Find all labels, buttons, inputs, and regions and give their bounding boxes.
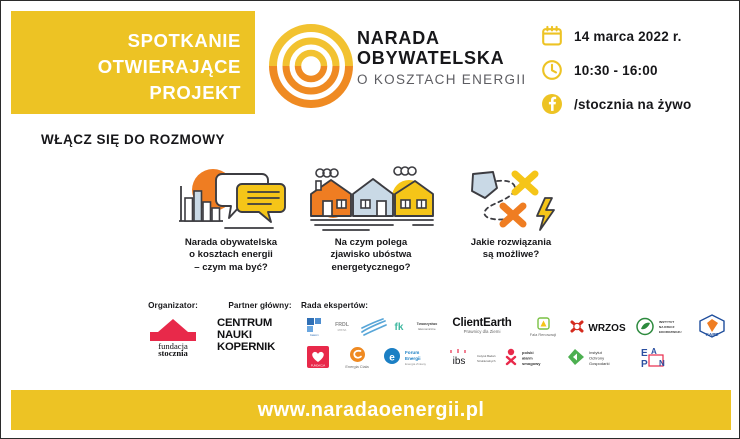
- svg-text:FUNDACJA: FUNDACJA: [311, 364, 326, 368]
- svg-text:ibs: ibs: [453, 356, 466, 367]
- poster-root: SPOTKANIE OTWIERAJĄCE PROJEKT: [0, 0, 740, 439]
- svg-text:smogowy: smogowy: [522, 361, 541, 366]
- website-url[interactable]: www.naradaoenergii.pl: [258, 399, 485, 422]
- info-row-time: 10:30 - 16:00: [541, 57, 737, 83]
- logo-line-3: O KOSZTACH ENERGII: [357, 71, 542, 89]
- svg-text:Ekonomiczne: Ekonomiczne: [418, 327, 436, 331]
- forum-energii-logo: e Forum Energii Energia Zmiany: [379, 344, 445, 370]
- concentric-arcs-logo-icon: [269, 18, 353, 110]
- fala-renowacji-logo: Fala Renowacji: [519, 313, 567, 339]
- dashed-path-crosses-bolt-illustration: [441, 164, 581, 234]
- polska-energia-cieplna-logo: Energia Ciała: [335, 344, 379, 370]
- svg-text:Forum: Forum: [405, 350, 419, 355]
- svg-text:batory: batory: [310, 333, 319, 336]
- calendar-icon: [541, 25, 563, 47]
- organizer-label: Organizator:: [134, 301, 212, 310]
- wrzos-logo: WRZOS: [567, 313, 633, 339]
- svg-text:E: E: [641, 348, 648, 359]
- event-date: 14 marca 2022 r.: [574, 29, 682, 44]
- svg-text:MISTiA: MISTiA: [338, 328, 347, 332]
- fundacja-patria-logo: FUNDACJA: [301, 344, 335, 370]
- instytut-na-rzecz-ekorozwoju-logo: INSTYTUT NA RZECZ EKOROZWOJU: [633, 313, 695, 339]
- svg-text:FRDL: FRDL: [335, 322, 350, 328]
- clock-icon: [541, 59, 563, 81]
- svg-text:fk: fk: [395, 322, 404, 333]
- svg-text:Energia Zmiany: Energia Zmiany: [405, 362, 427, 366]
- ean-epn-logo: E A P N: [635, 344, 675, 370]
- topic-card-rozwiazania: Jakie rozwiązania są możliwe?: [441, 164, 581, 284]
- fundacja-konstruktywnej-ekologii-logo: fk: [389, 313, 409, 339]
- ibs-logo: ibs Instytut Badań Strukturalnych: [445, 344, 501, 370]
- facebook-handle[interactable]: /stocznia na żywo: [574, 97, 691, 112]
- poster-header: SPOTKANIE OTWIERAJĄCE PROJEKT: [1, 1, 740, 123]
- centrum-nauki-kopernik-logo: CENTRUM NAUKI KOPERNIK: [217, 317, 303, 353]
- svg-text:Towarzystwo: Towarzystwo: [417, 322, 437, 326]
- logo-wordmark: NARADA OBYWATELSKA O KOSZTACH ENERGII: [357, 28, 542, 89]
- topic-cards: Narada obywatelska o kosztach energii – …: [161, 164, 581, 284]
- headline-line-1: SPOTKANIE: [128, 32, 241, 51]
- fala-renowacji-label: Fala Renowacji: [530, 332, 557, 337]
- topic-card-caption: Na czym polega zjawisko ubóstwa energety…: [301, 237, 441, 274]
- logo-line-2: OBYWATELSKA: [357, 48, 542, 68]
- svg-text:KAPE: KAPE: [706, 332, 719, 337]
- experts-label: Rada ekspertów:: [301, 301, 731, 310]
- organizer-block: Organizator: fundacja stocznia: [134, 301, 212, 362]
- cnk-line-1: CENTRUM: [217, 317, 303, 329]
- headline-line-3: PROJEKT: [149, 84, 241, 103]
- svg-text:Instytut Badań: Instytut Badań: [477, 354, 496, 358]
- clientearth-tagline: Prawnicy dla Ziemi: [464, 329, 501, 335]
- topic-card-caption: Jakie rozwiązania są możliwe?: [441, 237, 581, 262]
- chart-speech-bubbles-illustration: [161, 164, 301, 234]
- clientearth-logo: ClientEarth Prawnicy dla Ziemi: [445, 313, 519, 339]
- cnk-line-3: KOPERNIK: [217, 341, 303, 353]
- three-houses-illustration: [301, 164, 441, 234]
- cnk-line-2: NAUKI: [217, 329, 303, 341]
- towarzystwo-logo: Towarzystwo Ekonomiczne: [409, 313, 445, 339]
- svg-text:INSTYTUT: INSTYTUT: [659, 320, 674, 324]
- experts-council-block: Rada ekspertów: batory FRDL MISTiA: [301, 301, 731, 370]
- svg-text:N: N: [659, 359, 665, 368]
- svg-text:NA RZECZ: NA RZECZ: [659, 325, 675, 329]
- polski-alarm-smogowy-logo: polski alarm smogowy: [501, 344, 563, 370]
- event-info-list: 14 marca 2022 r. 10:30 - 16:00: [541, 23, 737, 125]
- experts-logo-row-1: batory FRDL MISTiA: [301, 313, 731, 339]
- kape-logo: KAPE: [695, 313, 729, 339]
- logo-line-1: NARADA: [357, 28, 542, 48]
- instytut-ochrony-gospodarki-logo: Instytut Ochrony Gospodarki: [563, 344, 635, 370]
- main-partner-block: Partner główny: CENTRUM NAUKI KOPERNIK: [217, 301, 303, 353]
- clientearth-wordmark: ClientEarth: [452, 317, 511, 329]
- polska-energia-label: Energia Ciała: [345, 364, 368, 369]
- svg-text:Energii: Energii: [405, 356, 421, 361]
- svg-text:Strukturalnych: Strukturalnych: [477, 359, 496, 363]
- footer-bar: www.naradaoenergii.pl: [11, 390, 731, 430]
- svg-text:stocznia: stocznia: [158, 348, 188, 357]
- svg-text:Instytut: Instytut: [589, 350, 603, 355]
- svg-text:Gospodarki: Gospodarki: [589, 361, 610, 366]
- fundacja-wwf-logo: [357, 313, 389, 339]
- facebook-icon[interactable]: [541, 93, 563, 115]
- frdl-logo: FRDL MISTiA: [327, 313, 357, 339]
- svg-text:e: e: [389, 353, 395, 364]
- partners-section: Organizator: fundacja stocznia Partner g…: [1, 293, 740, 381]
- topic-card-caption: Narada obywatelska o kosztach energii – …: [161, 237, 301, 274]
- event-time: 10:30 - 16:00: [574, 63, 658, 78]
- topic-card-ubostwo: Na czym polega zjawisko ubóstwa energety…: [301, 164, 441, 284]
- svg-text:polski: polski: [522, 350, 534, 355]
- main-partner-label: Partner główny:: [217, 301, 303, 310]
- svg-text:EKOROZWOJU: EKOROZWOJU: [659, 330, 682, 334]
- headline-line-2: OTWIERAJĄCE: [98, 58, 241, 77]
- topic-card-narada: Narada obywatelska o kosztach energii – …: [161, 164, 301, 284]
- fundacja-im-stefana-batorego-logo: batory: [301, 313, 327, 339]
- svg-text:P: P: [641, 359, 648, 369]
- info-row-facebook[interactable]: /stocznia na żywo: [541, 91, 737, 117]
- experts-logo-row-2: FUNDACJA Energia Ciała e Forum Ener: [301, 344, 731, 370]
- svg-text:Ochrony: Ochrony: [589, 356, 604, 361]
- svg-text:WRZOS: WRZOS: [588, 323, 626, 334]
- section-subheading: WŁĄCZ SIĘ DO ROZMOWY: [41, 132, 225, 147]
- headline-banner: SPOTKANIE OTWIERAJĄCE PROJEKT: [11, 11, 255, 114]
- svg-text:alarm: alarm: [522, 356, 533, 361]
- fundacja-stocznia-logo: fundacja stocznia: [134, 315, 212, 362]
- info-row-date: 14 marca 2022 r.: [541, 23, 737, 49]
